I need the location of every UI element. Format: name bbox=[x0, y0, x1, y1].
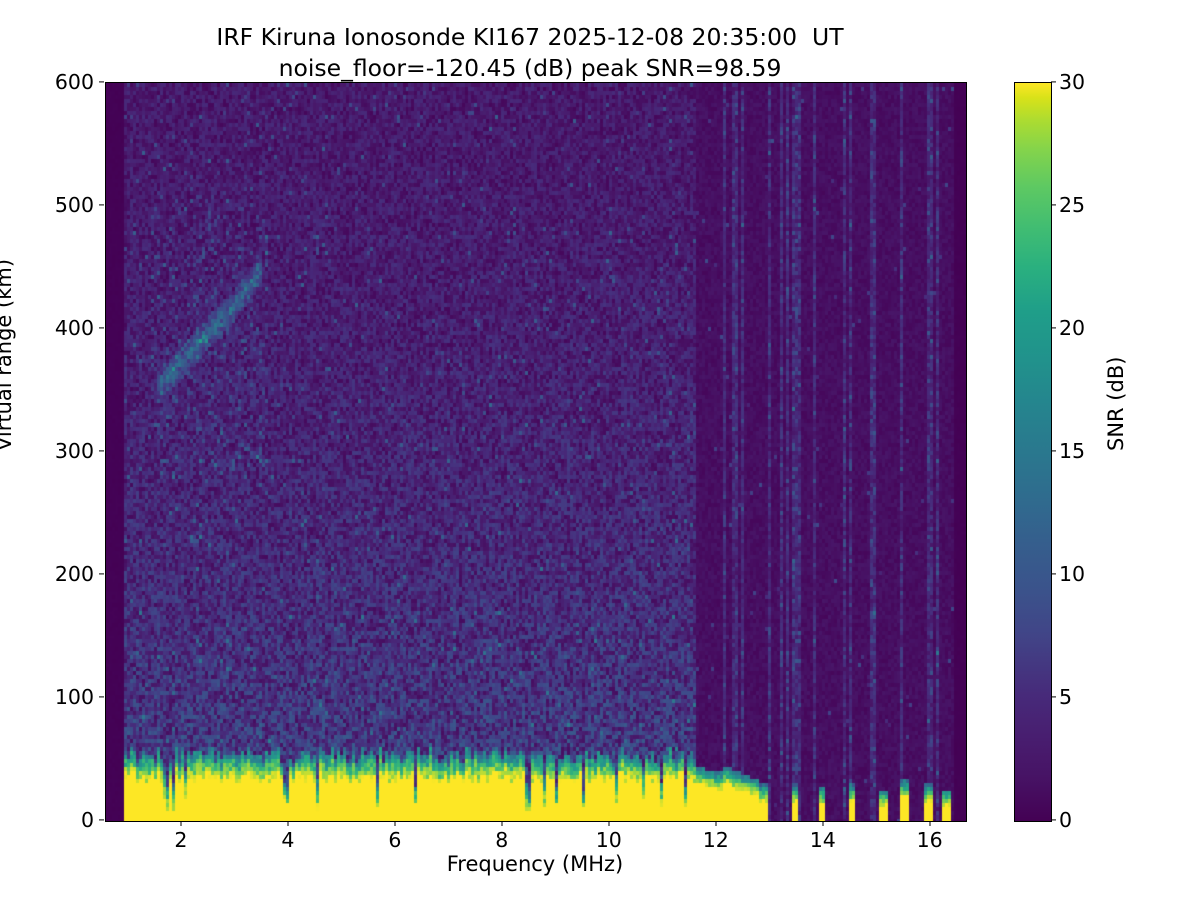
x-tick-label: 8 bbox=[472, 828, 532, 852]
colorbar-tick-label: 5 bbox=[1059, 685, 1072, 709]
y-tick-mark bbox=[99, 696, 104, 697]
x-tick-label: 2 bbox=[151, 828, 211, 852]
colorbar-tick-label: 20 bbox=[1059, 316, 1085, 340]
x-tick-label: 16 bbox=[900, 828, 960, 852]
ionogram-heatmap bbox=[106, 83, 966, 821]
y-tick-label: 0 bbox=[34, 808, 94, 832]
x-tick-mark bbox=[715, 821, 716, 826]
x-axis-label: Frequency (MHz) bbox=[105, 852, 965, 876]
colorbar-tick-mark bbox=[1051, 819, 1056, 820]
y-tick-mark bbox=[99, 450, 104, 451]
y-tick-label: 200 bbox=[34, 562, 94, 586]
colorbar-tick-label: 30 bbox=[1059, 70, 1085, 94]
colorbar-tick-mark bbox=[1051, 327, 1056, 328]
y-tick-mark bbox=[99, 204, 104, 205]
y-tick-label: 100 bbox=[34, 685, 94, 709]
y-tick-label: 300 bbox=[34, 439, 94, 463]
colorbar-tick-label: 15 bbox=[1059, 439, 1085, 463]
x-tick-mark bbox=[287, 821, 288, 826]
title-line-2: noise_floor=-120.45 (dB) peak SNR=98.59 bbox=[0, 53, 1060, 84]
x-tick-mark bbox=[180, 821, 181, 826]
y-axis-label: Virtual range (km) bbox=[0, 259, 16, 451]
colorbar-label: SNR (dB) bbox=[1104, 357, 1128, 451]
y-tick-mark bbox=[99, 573, 104, 574]
figure-title: IRF Kiruna Ionosonde KI167 2025-12-08 20… bbox=[0, 22, 1060, 84]
colorbar-tick-mark bbox=[1051, 204, 1056, 205]
y-tick-label: 600 bbox=[34, 70, 94, 94]
colorbar-tick-label: 25 bbox=[1059, 193, 1085, 217]
y-tick-mark bbox=[99, 327, 104, 328]
colorbar-tick-mark bbox=[1051, 81, 1056, 82]
title-line-1: IRF Kiruna Ionosonde KI167 2025-12-08 20… bbox=[0, 22, 1060, 53]
x-tick-label: 14 bbox=[793, 828, 853, 852]
colorbar-tick-mark bbox=[1051, 450, 1056, 451]
x-tick-label: 12 bbox=[686, 828, 746, 852]
y-tick-label: 500 bbox=[34, 193, 94, 217]
y-tick-mark bbox=[99, 819, 104, 820]
x-tick-label: 10 bbox=[579, 828, 639, 852]
ionogram-figure: IRF Kiruna Ionosonde KI167 2025-12-08 20… bbox=[0, 0, 1200, 900]
colorbar-tick-mark bbox=[1051, 573, 1056, 574]
x-tick-mark bbox=[822, 821, 823, 826]
snr-colorbar bbox=[1014, 82, 1052, 822]
y-tick-mark bbox=[99, 81, 104, 82]
x-tick-label: 4 bbox=[258, 828, 318, 852]
y-tick-label: 400 bbox=[34, 316, 94, 340]
x-tick-label: 6 bbox=[365, 828, 425, 852]
colorbar-tick-label: 10 bbox=[1059, 562, 1085, 586]
colorbar-tick-mark bbox=[1051, 696, 1056, 697]
x-tick-mark bbox=[608, 821, 609, 826]
x-tick-mark bbox=[394, 821, 395, 826]
x-tick-mark bbox=[929, 821, 930, 826]
colorbar-tick-label: 0 bbox=[1059, 808, 1072, 832]
ionogram-axes bbox=[105, 82, 967, 822]
x-tick-mark bbox=[501, 821, 502, 826]
